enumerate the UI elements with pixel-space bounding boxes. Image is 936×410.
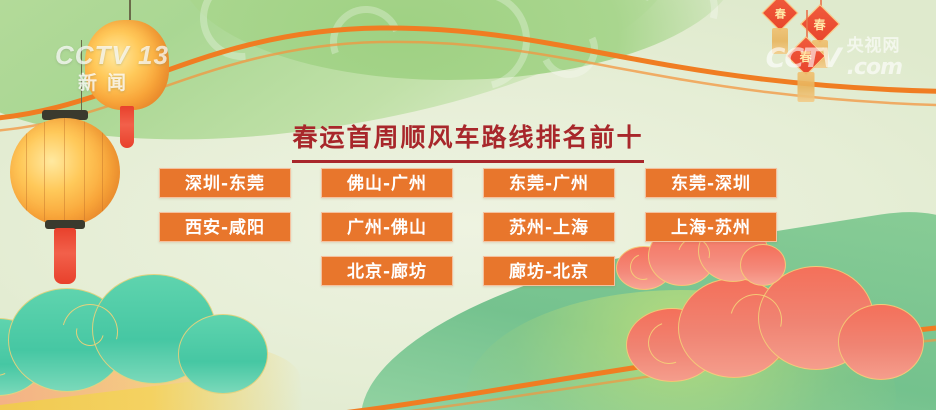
route-pill[interactable]: 深圳-东莞 bbox=[159, 168, 291, 198]
route-row: 北京-廊坊廊坊-北京 bbox=[0, 256, 936, 286]
broadcast-graphic: 春 春 春 CCTV 13 新闻 CCTV 央视网 .com 春运首周顺风车路线… bbox=[0, 0, 936, 410]
route-pill[interactable]: 廊坊-北京 bbox=[483, 256, 615, 286]
headline-container: 春运首周顺风车路线排名前十 bbox=[0, 118, 936, 163]
route-pill[interactable]: 苏州-上海 bbox=[483, 212, 615, 242]
route-row: 深圳-东莞佛山-广州东莞-广州东莞-深圳 bbox=[0, 168, 936, 198]
route-pill[interactable]: 东莞-深圳 bbox=[645, 168, 777, 198]
route-pill[interactable]: 西安-咸阳 bbox=[159, 212, 291, 242]
route-pill[interactable]: 北京-廊坊 bbox=[321, 256, 453, 286]
route-pill[interactable]: 东莞-广州 bbox=[483, 168, 615, 198]
route-pill[interactable]: 广州-佛山 bbox=[321, 212, 453, 242]
route-pill[interactable]: 上海-苏州 bbox=[645, 212, 777, 242]
route-ranking-list: 深圳-东莞佛山-广州东莞-广州东莞-深圳西安-咸阳广州-佛山苏州-上海上海-苏州… bbox=[0, 168, 936, 300]
page-title: 春运首周顺风车路线排名前十 bbox=[292, 118, 643, 163]
route-row: 西安-咸阳广州-佛山苏州-上海上海-苏州 bbox=[0, 212, 936, 242]
route-pill[interactable]: 佛山-广州 bbox=[321, 168, 453, 198]
